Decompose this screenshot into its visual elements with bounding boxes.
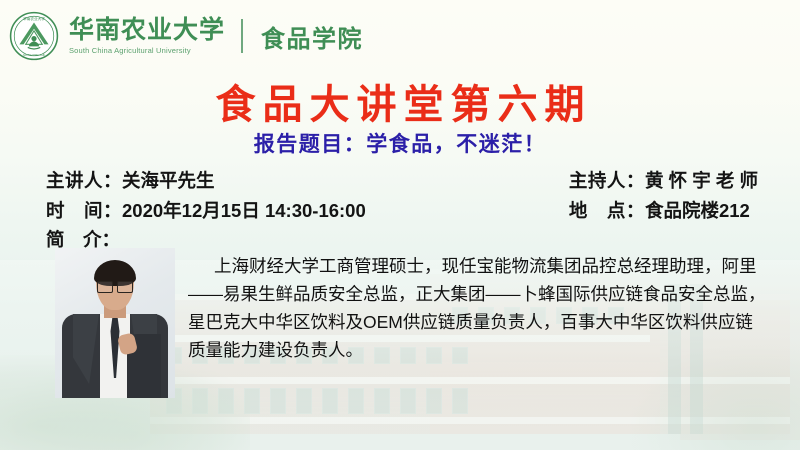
location-row: 地 点：食品院楼212: [569, 196, 758, 226]
host-value: 黄 怀 宇 老 师: [645, 170, 758, 191]
host-label: 主持人：: [569, 170, 645, 191]
speaker-label: 主讲人：: [46, 170, 122, 191]
svg-text:SOUTH CHINA AGRI: SOUTH CHINA AGRI: [23, 54, 45, 57]
info-left-column: 主讲人：关海平先生 时 间：2020年12月15日 14:30-16:00: [46, 166, 366, 226]
svg-text:华南农业大学: 华南农业大学: [23, 16, 45, 21]
bio-line-3: 星巴克大中华区饮料及OEM供应链质量负责人，百事大中华区饮料供应链: [188, 308, 788, 336]
time-value: 2020年12月15日 14:30-16:00: [122, 200, 366, 221]
speaker-portrait-photo: [55, 248, 175, 398]
speaker-row: 主讲人：关海平先生: [46, 166, 366, 196]
university-name-block: 华南农业大学 South China Agricultural Universi…: [69, 17, 225, 54]
glasses-icon: [97, 281, 133, 291]
poster-canvas: 华南农业大学 SOUTH CHINA AGRI 华南农业大学 South Chi…: [0, 0, 800, 450]
speaker-bio: 上海财经大学工商管理硕士，现任宝能物流集团品控总经理助理，阿里 ——易果生鲜品质…: [188, 252, 788, 364]
bio-line-2: ——易果生鲜品质安全总监，正大集团——卜蜂国际供应链食品安全总监，: [188, 280, 788, 308]
speaker-value: 关海平先生: [122, 170, 215, 191]
info-right-column: 主持人：黄 怀 宇 老 师 地 点：食品院楼212: [569, 166, 758, 226]
location-label: 地 点：: [569, 200, 645, 221]
time-label: 时 间：: [46, 200, 122, 221]
university-logo-bar: 华南农业大学 SOUTH CHINA AGRI 华南农业大学 South Chi…: [8, 10, 363, 62]
host-row: 主持人：黄 怀 宇 老 师: [569, 166, 758, 196]
university-name-cn: 华南农业大学: [69, 17, 225, 43]
page-subtitle: 报告题目：学食品，不迷茫！: [0, 128, 800, 158]
bio-line-4: 质量能力建设负责人。: [188, 336, 788, 364]
bio-line-1: 上海财经大学工商管理硕士，现任宝能物流集团品控总经理助理，阿里: [188, 252, 788, 280]
college-name-cn: 食品学院: [261, 19, 363, 54]
page-title: 食品大讲堂第六期: [0, 72, 800, 130]
university-name-en: South China Agricultural University: [69, 46, 191, 55]
time-row: 时 间：2020年12月15日 14:30-16:00: [46, 196, 366, 226]
location-value: 食品院楼212: [645, 200, 750, 221]
scau-emblem-icon: 华南农业大学 SOUTH CHINA AGRI: [8, 10, 60, 62]
logo-divider: [241, 19, 243, 53]
